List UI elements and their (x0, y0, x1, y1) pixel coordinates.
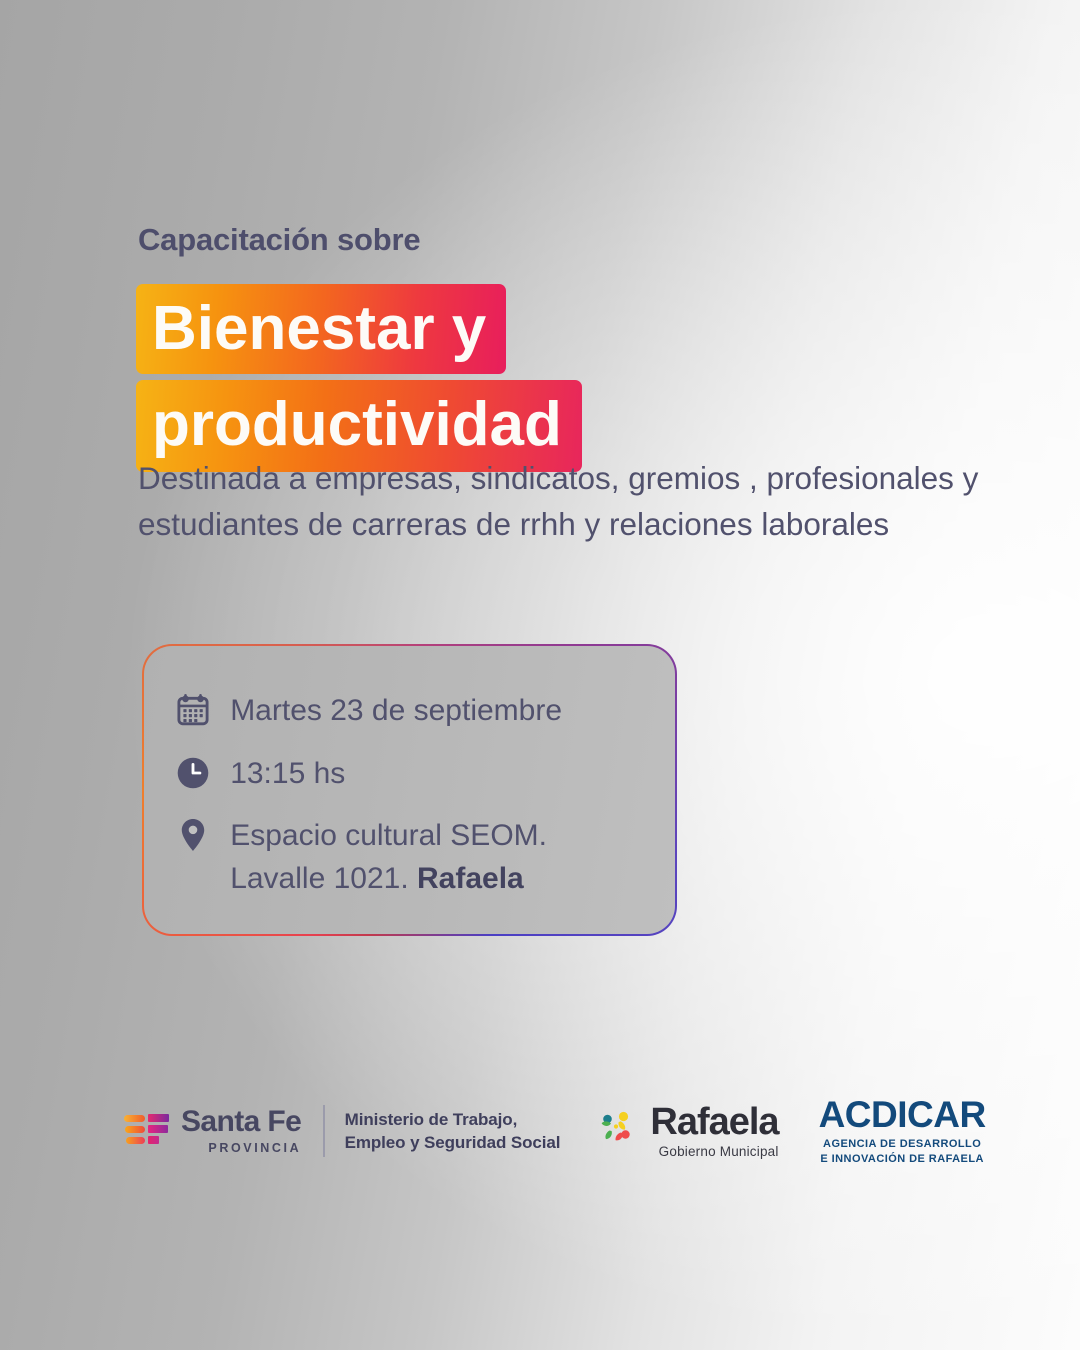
santa-fe-subtitle: PROVINCIA (181, 1142, 301, 1155)
rafaela-wordmark: Rafaela Gobierno Municipal (650, 1103, 778, 1159)
logo-rafaela: Rafaela Gobierno Municipal (596, 1103, 778, 1159)
list-item: Martes 23 de septiembre (174, 690, 675, 733)
calendar-icon (174, 690, 212, 728)
santa-fe-wordmark: Santa Fe PROVINCIA (181, 1107, 301, 1155)
logo-divider (323, 1105, 324, 1157)
event-time: 13:15 hs (230, 753, 345, 796)
acdicar-subtitle: AGENCIA DE DESARROLLO E INNOVACIÓN DE RA… (820, 1137, 984, 1166)
event-location-line-1: Espacio cultural SEOM. (230, 819, 547, 852)
location-pin-icon (174, 815, 212, 853)
clock-icon (174, 753, 212, 791)
rafaela-pinwheel-icon (596, 1106, 640, 1157)
subtitle-text: Destinada a empresas, sindicatos, gremio… (138, 456, 988, 547)
event-city: Rafaela (417, 862, 524, 895)
ministerio-line-2: Empleo y Seguridad Social (345, 1131, 561, 1154)
logo-santa-fe: Santa Fe PROVINCIA (124, 1107, 301, 1155)
list-item: 13:15 hs (174, 753, 675, 796)
logo-bar: Santa Fe PROVINCIA Ministerio de Trabajo… (124, 1096, 986, 1166)
card-body: Martes 23 de septiembre 13:15 hs (144, 646, 675, 934)
ministerio-line-1: Ministerio de Trabajo, (345, 1108, 561, 1131)
rafaela-subtitle: Gobierno Municipal (650, 1145, 778, 1159)
acdicar-subtitle-line-2: E INNOVACIÓN DE RAFAELA (820, 1153, 984, 1165)
event-details-card: Martes 23 de septiembre 13:15 hs (142, 644, 677, 936)
rafaela-title: Rafaela (650, 1103, 778, 1141)
acdicar-title: ACDICAR (819, 1096, 986, 1133)
eyebrow-text: Capacitación sobre (138, 222, 420, 258)
event-location-line-2: Lavalle 1021. (230, 862, 417, 895)
santa-fe-title: Santa Fe (181, 1107, 301, 1137)
page-title: Bienestar y productividad (136, 284, 582, 472)
event-location: Espacio cultural SEOM. Lavalle 1021. Raf… (230, 815, 547, 900)
list-item: Espacio cultural SEOM. Lavalle 1021. Raf… (174, 815, 675, 900)
logo-ministerio: Ministerio de Trabajo, Empleo y Segurida… (345, 1108, 561, 1155)
acdicar-subtitle-line-1: AGENCIA DE DESARROLLO (823, 1138, 981, 1150)
event-poster: Capacitación sobre Bienestar y productiv… (0, 0, 1080, 1350)
santa-fe-mark-icon (124, 1110, 170, 1152)
event-date: Martes 23 de septiembre (230, 690, 562, 733)
logo-acdicar: ACDICAR AGENCIA DE DESARROLLO E INNOVACI… (819, 1096, 986, 1166)
title-line-1: Bienestar y (136, 284, 506, 374)
